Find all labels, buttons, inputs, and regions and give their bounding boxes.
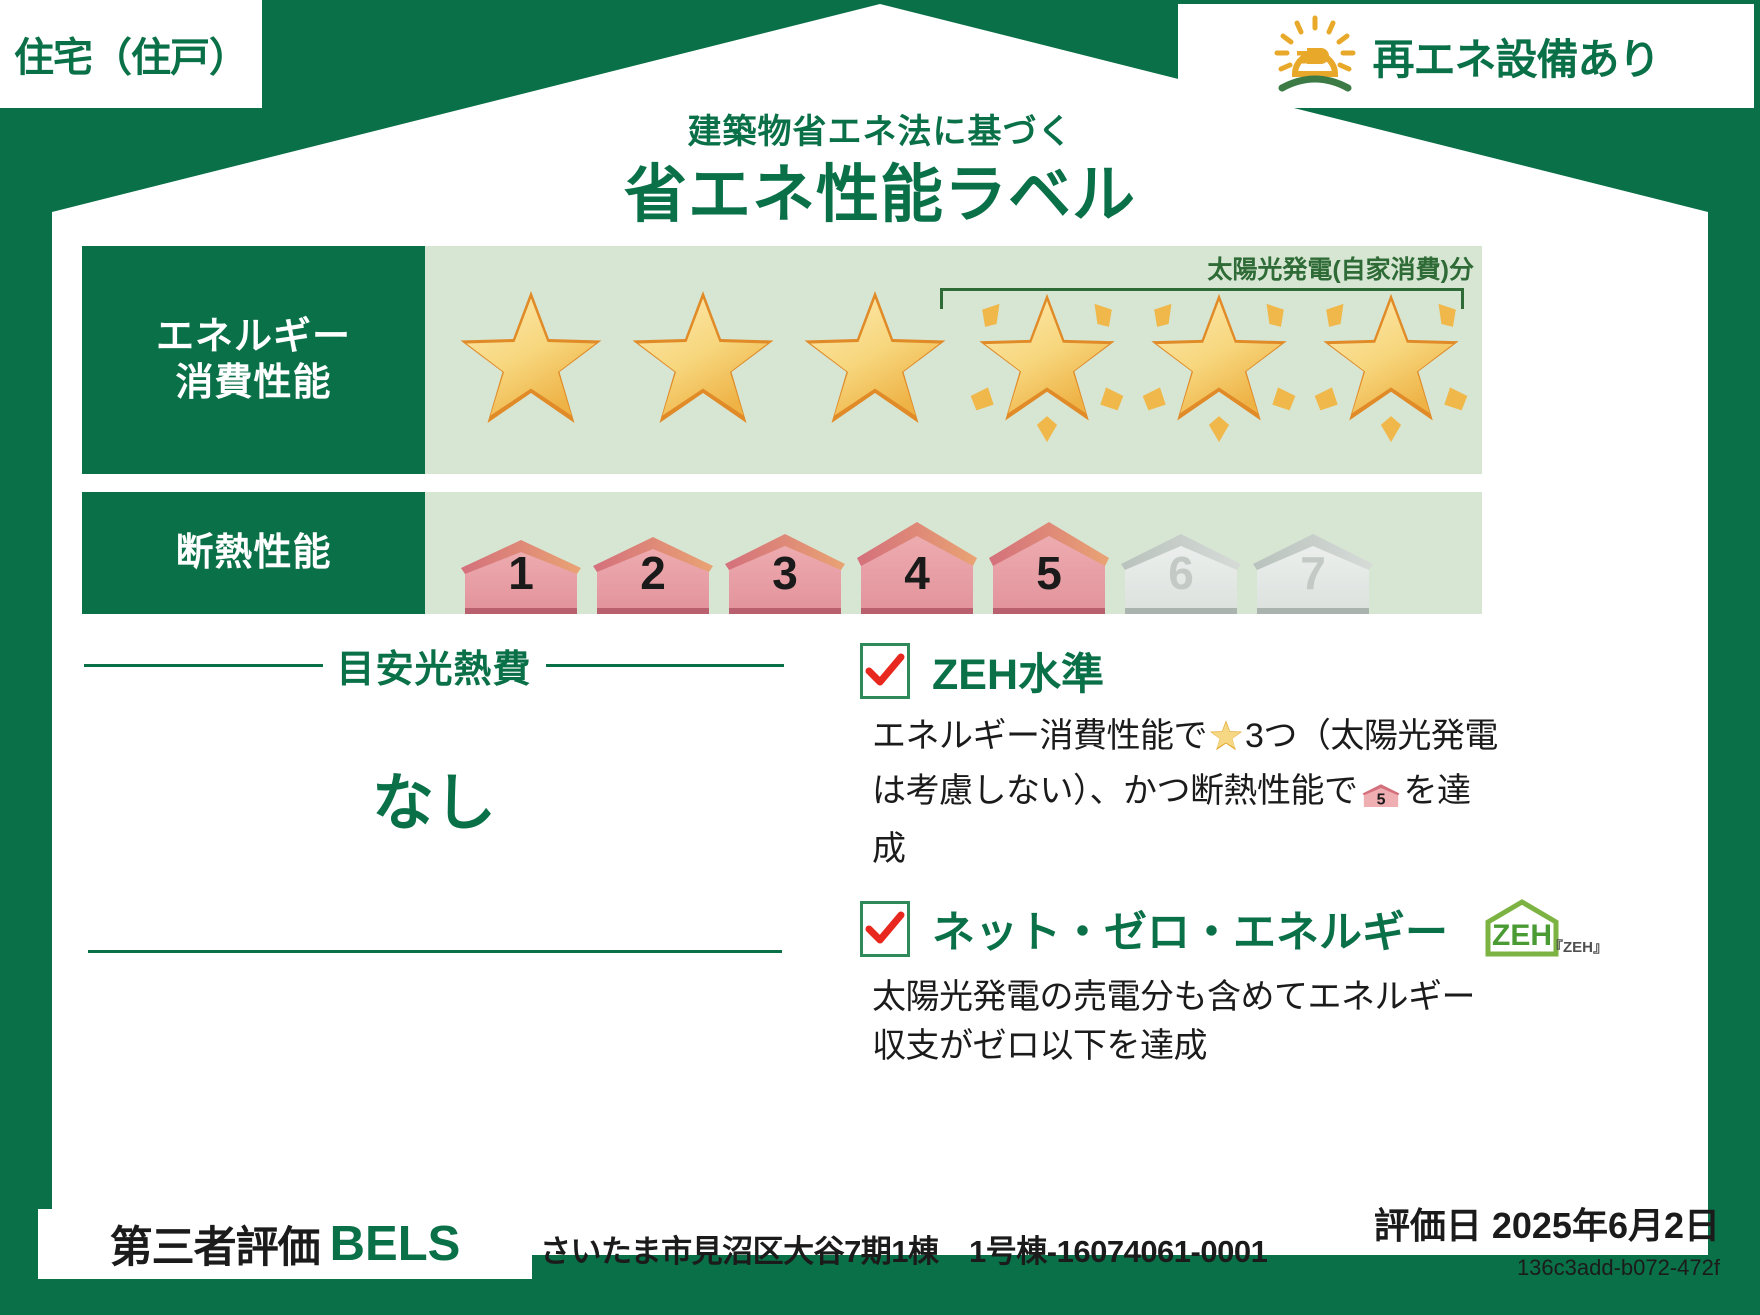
insulation-house-5: 5: [983, 514, 1115, 614]
bels-en-label: BELS: [330, 1216, 461, 1272]
zeh-netzero-checkbox[interactable]: [860, 901, 910, 957]
zeh-standard-checkbox[interactable]: [860, 643, 910, 699]
zeh-netzero-title: ネット・ゼロ・エネルギー: [932, 898, 1448, 960]
utility-cost-heading-text: 目安光熱費: [337, 638, 532, 693]
insulation-house-7-number: 7: [1247, 546, 1379, 600]
insulation-performance-body: 1 2 3: [425, 492, 1482, 614]
inline-house-icon: 5: [1362, 775, 1400, 824]
bels-logo-box: 第三者評価 BELS: [38, 1209, 532, 1279]
badge-dwelling-type: 住宅（住戸）: [0, 0, 262, 108]
insulation-house-3-number: 3: [719, 546, 851, 600]
energy-star-3: [789, 265, 961, 455]
insulation-house-1-number: 1: [455, 546, 587, 600]
check-icon: [865, 911, 905, 947]
insulation-house-2: 2: [587, 528, 719, 614]
utility-cost-heading: 目安光熱費: [84, 638, 784, 693]
page-title: 省エネ性能ラベル: [0, 144, 1760, 235]
bels-jp-label: 第三者評価: [110, 1213, 320, 1275]
energy-label-line2: 消費性能: [175, 360, 331, 406]
zeh-standard-title: ZEH水準: [932, 640, 1104, 702]
badge-renewable-equipment: 再エネ設備あり: [1178, 4, 1754, 108]
zeh-standard-row: ZEH水準: [860, 640, 1500, 702]
solar-plug-icon: [1272, 14, 1358, 99]
energy-star-rating: [425, 246, 1482, 474]
zeh-logo-icon: ZEH 『ZEH』: [1482, 896, 1600, 963]
insulation-level-scale: 1 2 3: [425, 492, 1482, 614]
insulation-house-5-number: 5: [983, 546, 1115, 600]
energy-star-5-solar: [1133, 265, 1305, 455]
insulation-house-2-number: 2: [587, 546, 719, 600]
insulation-house-6-number: 6: [1115, 546, 1247, 600]
utility-cost-rule-right: [546, 664, 785, 667]
zeh-standard-description: エネルギー消費性能で3つ（太陽光発電 は考慮しない）、かつ断熱性能で5を達成: [872, 712, 1500, 874]
utility-cost-rule-left: [84, 664, 323, 667]
energy-star-2: [617, 265, 789, 455]
svg-text:ZEH: ZEH: [1492, 919, 1552, 952]
zeh-netzero-row: ネット・ゼロ・エネルギー ZEH 『ZEH』: [860, 896, 1500, 963]
zeh-standard-desc-a: エネルギー消費性能で: [872, 717, 1207, 755]
energy-performance-body: 太陽光発電(自家消費)分: [425, 246, 1482, 474]
insulation-performance-label: 断熱性能: [82, 492, 425, 614]
zeh-section: ZEH水準 エネルギー消費性能で3つ（太陽光発電 は考慮しない）、かつ断熱性能で…: [860, 640, 1500, 1071]
energy-star-1: [445, 265, 617, 455]
energy-label-line1: エネルギー: [156, 314, 351, 360]
inline-star-icon: [1209, 718, 1243, 767]
zeh-netzero-desc-line1: 太陽光発電の売電分も含めてエネルギー: [872, 978, 1475, 1016]
badge-renewable-label: 再エネ設備あり: [1372, 26, 1659, 87]
svg-text:5: 5: [1376, 792, 1385, 809]
zeh-netzero-desc-line2: 収支がゼロ以下を達成: [872, 1027, 1207, 1065]
zeh-standard-desc-b: は考慮しない）、かつ断熱性能で: [872, 772, 1358, 810]
insulation-house-7: 7: [1247, 524, 1379, 614]
check-icon: [865, 653, 905, 689]
energy-star-6-solar: [1305, 265, 1477, 455]
badge-dwelling-label: 住宅（住戸）: [14, 25, 248, 83]
zeh-standard-desc-star: 3つ（太陽光発電: [1245, 717, 1498, 755]
insulation-house-6: 6: [1115, 524, 1247, 614]
utility-cost-bottom-rule: [88, 950, 782, 953]
energy-star-4-solar: [961, 265, 1133, 455]
insulation-house-1: 1: [455, 532, 587, 614]
energy-performance-label: エネルギー 消費性能: [82, 246, 425, 474]
evaluation-id: 136c3add-b072-472f: [1517, 1255, 1720, 1281]
svg-text:『ZEH』: 『ZEH』: [1548, 938, 1600, 956]
insulation-house-4-number: 4: [851, 546, 983, 600]
property-address: さいたま市見沼区大谷7期1棟 1号棟-16074061-0001: [540, 1226, 1267, 1271]
insulation-label-text: 断熱性能: [175, 530, 331, 576]
certificate-footer: 第三者評価 BELS さいたま市見沼区大谷7期1棟 1号棟-16074061-0…: [0, 1195, 1760, 1315]
utility-cost-value: なし: [84, 752, 784, 842]
energy-performance-row: エネルギー 消費性能 太陽光発電(自家消費)分: [82, 246, 1482, 474]
insulation-house-3: 3: [719, 524, 851, 614]
insulation-performance-row: 断熱性能: [82, 492, 1482, 614]
zeh-netzero-description: 太陽光発電の売電分も含めてエネルギー 収支がゼロ以下を達成: [872, 973, 1500, 1072]
insulation-house-4: 4: [851, 514, 983, 614]
evaluation-date: 評価日 2025年6月2日: [1374, 1197, 1720, 1249]
